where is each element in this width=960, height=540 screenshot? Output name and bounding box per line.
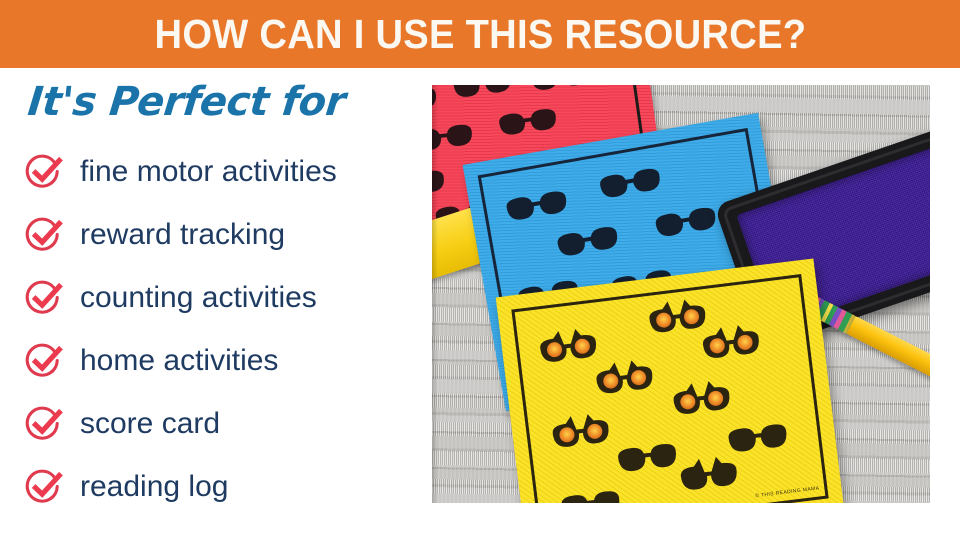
list-item-label: reading log (80, 472, 228, 502)
list-item: score card (0, 392, 432, 455)
photo-left-shadow (432, 85, 438, 503)
list-item: home activities (0, 329, 432, 392)
left-content-panel: It's Perfect for fine motor activities r… (0, 68, 432, 540)
check-circle-icon (24, 467, 64, 507)
check-circle-icon (24, 278, 64, 318)
header-banner: HOW CAN I USE THIS RESOURCE? (0, 0, 960, 68)
check-circle-icon (24, 152, 64, 192)
benefit-list: fine motor activities reward tracking co… (0, 140, 432, 518)
check-circle-icon (24, 341, 64, 381)
check-circle-icon (24, 215, 64, 255)
list-item-label: fine motor activities (80, 157, 337, 187)
glasses-pattern-yellow (520, 285, 819, 503)
check-circle-icon (24, 404, 64, 444)
yellow-activity-card: © THIS READING MAMA (496, 258, 845, 503)
list-item-label: counting activities (80, 283, 317, 313)
list-item-label: reward tracking (80, 220, 285, 250)
list-item: reward tracking (0, 203, 432, 266)
list-item: fine motor activities (0, 140, 432, 203)
list-item-label: score card (80, 409, 220, 439)
script-heading: It's Perfect for (26, 82, 347, 122)
list-item: counting activities (0, 266, 432, 329)
page-title: HOW CAN I USE THIS RESOURCE? (154, 14, 806, 55)
list-item-label: home activities (80, 346, 278, 376)
product-photo: © THIS READING MAMA (432, 85, 930, 503)
list-item: reading log (0, 455, 432, 518)
